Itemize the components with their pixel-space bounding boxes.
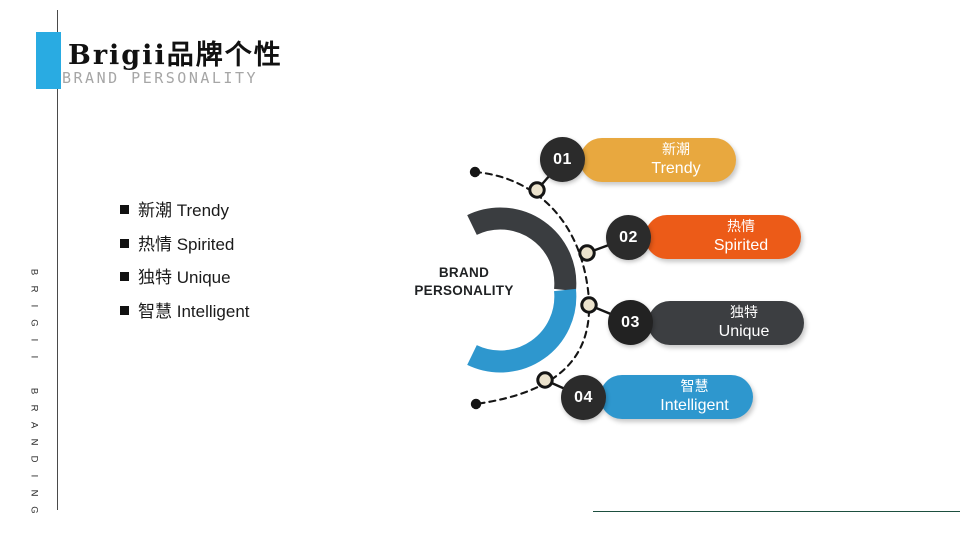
spine-start-dot	[470, 167, 480, 177]
accent-bar	[36, 32, 61, 89]
rail-vertical-label-text: BRIGII BRANDING	[23, 264, 45, 519]
list-item: 热情 Spirited	[120, 230, 400, 264]
donut-arc-bottom	[472, 290, 565, 361]
spine-end-dot	[471, 399, 481, 409]
step-badge-02[interactable]: 02	[606, 215, 651, 260]
pill-label-zh: 新潮	[651, 142, 700, 159]
pill-label-en: Unique	[719, 322, 770, 341]
slide-canvas: BRIGII BRANDING Brigii品牌个性 BRAND PERSONA…	[0, 0, 960, 540]
square-bullet-icon	[120, 306, 129, 315]
personality-bullet-list: 新潮 Trendy 热情 Spirited 独特 Unique 智慧 Intel…	[120, 196, 400, 330]
personality-pill-04[interactable]: 智慧 Intelligent	[600, 375, 753, 419]
connector-node-04	[538, 373, 552, 387]
step-badge-03[interactable]: 03	[608, 300, 653, 345]
step-badge-04[interactable]: 04	[561, 375, 606, 420]
personality-pill-02[interactable]: 热情 Spirited	[645, 215, 801, 259]
pill-label-zh: 独特	[719, 305, 770, 322]
pill-label-zh: 智慧	[660, 379, 729, 396]
pill-label-en: Spirited	[714, 236, 768, 255]
pill-text-block: 独特 Unique	[719, 305, 770, 341]
rail-vertical-label: BRIGII BRANDING	[23, 230, 45, 553]
footer-divider	[593, 511, 960, 512]
step-badge-number: 02	[619, 229, 638, 247]
page-title: Brigii品牌个性	[68, 33, 283, 72]
step-badge-01[interactable]: 01	[540, 137, 585, 182]
list-item-label: 热情 Spirited	[138, 230, 234, 255]
step-badge-number: 03	[621, 314, 640, 332]
connector-node-03	[582, 298, 596, 312]
connector-node-02	[580, 246, 594, 260]
pill-text-block: 新潮 Trendy	[651, 142, 700, 178]
square-bullet-icon	[120, 272, 129, 281]
pill-label-en: Trendy	[651, 159, 700, 178]
personality-pill-01[interactable]: 新潮 Trendy	[580, 138, 736, 182]
page-subtitle: BRAND PERSONALITY	[62, 69, 258, 87]
list-item-label: 独特 Unique	[138, 263, 231, 288]
connector-node-01	[530, 183, 544, 197]
list-item: 独特 Unique	[120, 263, 400, 297]
list-item-label: 新潮 Trendy	[138, 196, 229, 221]
pill-text-block: 热情 Spirited	[714, 219, 768, 255]
pill-label-zh: 热情	[714, 219, 768, 236]
step-badge-number: 01	[553, 151, 572, 169]
center-label-line-2: PERSONALITY	[398, 282, 530, 300]
list-item: 新潮 Trendy	[120, 196, 400, 230]
personality-pill-03[interactable]: 独特 Unique	[648, 301, 804, 345]
pill-text-block: 智慧 Intelligent	[660, 379, 729, 415]
list-item: 智慧 Intelligent	[120, 297, 400, 331]
center-label-line-1: BRAND	[398, 264, 530, 282]
diagram-center-label: BRAND PERSONALITY	[398, 264, 530, 300]
list-item-label: 智慧 Intelligent	[138, 297, 250, 322]
square-bullet-icon	[120, 239, 129, 248]
square-bullet-icon	[120, 205, 129, 214]
step-badge-number: 04	[574, 389, 593, 407]
pill-label-en: Intelligent	[660, 396, 729, 415]
